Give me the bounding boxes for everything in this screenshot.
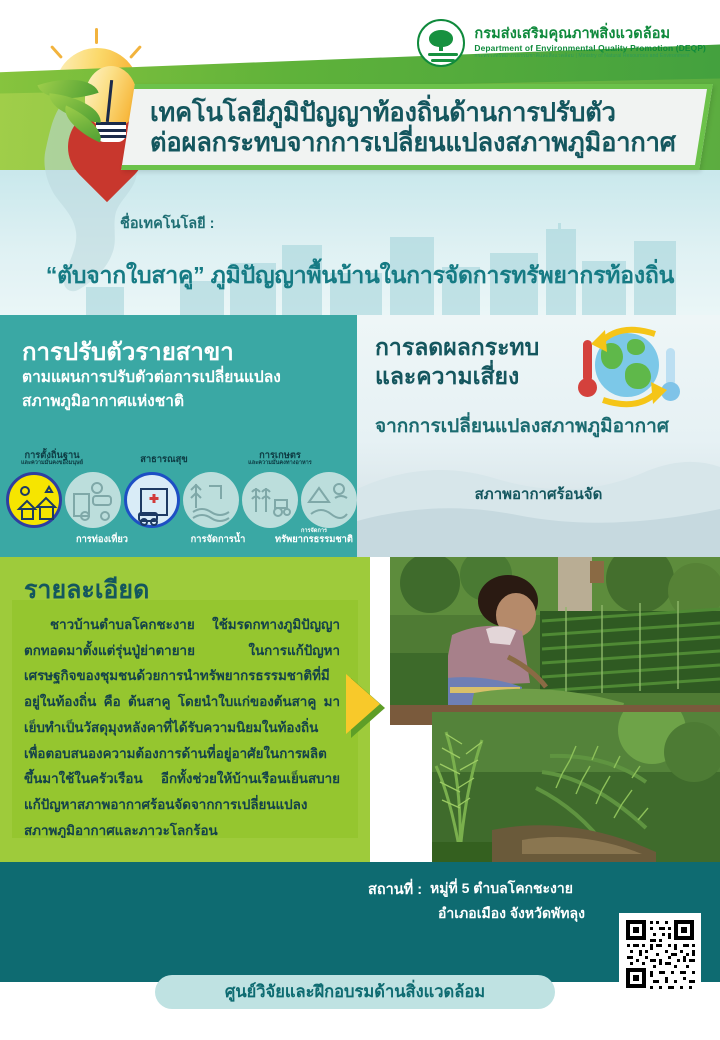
adaptation-subheading-line-2: สภาพภูมิอากาศแห่งชาติ [22, 390, 342, 414]
adaptation-subheading-line-1: ตามแผนการปรับตัวต่อการเปลี่ยนแปลง [22, 366, 342, 390]
sector-label-agriculture: การเกษตร และความมั่นคงทางอาหาร [228, 450, 332, 467]
detail-heading: รายละเอียด [24, 570, 149, 610]
deqp-logo: กรมส่งเสริมคุณภาพสิ่งแวดล้อม Department … [417, 14, 706, 72]
sector-label-natural-resources: การจัดการ ทรัพยากรธรรมชาติ [268, 528, 360, 545]
org-name-th: กรมส่งเสริมคุณภาพสิ่งแวดล้อม [474, 27, 706, 43]
title-line-2: ต่อผลกระทบจากการเปลี่ยนแปลงสภาพภูมิอากาศ [150, 128, 706, 158]
adaptation-subheading: ตามแผนการปรับตัวต่อการเปลี่ยนแปลง สภาพภู… [22, 366, 342, 414]
location-line-1: หมู่ที่ 5 ตำบลโคกชะงาย [430, 878, 573, 900]
weaving-sago-roof-photo [390, 557, 720, 725]
org-name-en: Department of Environmental Quality Prom… [474, 44, 706, 53]
mitigation-note: สภาพอากาศร้อนจัด [357, 482, 720, 506]
mitigation-heading-line-1: การลดผลกระทบ [375, 333, 539, 362]
sector-icon-natural-resources[interactable] [301, 472, 357, 528]
technology-name-label: ชื่อเทคโนโลยี : [120, 212, 215, 235]
title-line-1: เทคโนโลยีภูมิปัญญาท้องถิ่นด้านการปรับตัว [150, 98, 706, 128]
technology-name-value: “ตับจากใบสาคู” ภูมิปัญญาพื้นบ้านในการจัด… [0, 258, 720, 294]
cycle-arrows-icon [583, 324, 675, 410]
sector-icon-water-management[interactable] [183, 472, 239, 528]
sector-icon-row [6, 472, 354, 534]
sun-ray [95, 28, 98, 44]
page-title: เทคโนโลยีภูมิปัญญาท้องถิ่นด้านการปรับตัว… [150, 88, 706, 168]
footer-band [0, 862, 720, 982]
mitigation-subheading: จากการเปลี่ยนแปลงสภาพภูมิอากาศ [375, 411, 669, 441]
qr-caption: ข้อมูลเพิ่มเติม [612, 1000, 708, 1017]
qr-code[interactable] [619, 913, 701, 995]
sector-label-tourism: การท่องเที่ยว [56, 534, 148, 544]
sector-label-settlements: การตั้งถิ่นฐาน และความมั่นคงของมนุษย์ [4, 450, 100, 467]
mitigation-heading: การลดผลกระทบ และความเสี่ยง [375, 333, 539, 391]
sector-icon-village[interactable] [6, 472, 62, 528]
footer-pill: ศูนย์วิจัยและฝึกอบรมด้านสิ่งแวดล้อม [155, 975, 555, 1009]
sector-icon-agriculture[interactable] [242, 472, 298, 528]
sector-label-public-health: สาธารณสุข [118, 454, 210, 464]
sector-icon-hospital[interactable] [124, 472, 180, 528]
sago-palm-grove-photo [432, 712, 720, 862]
sun-ray [50, 45, 63, 59]
footer-text: ศูนย์วิจัยและฝึกอบรมด้านสิ่งแวดล้อม [225, 979, 485, 1005]
location-line-2: อำเภอเมือง จังหวัดพัทลุง [438, 903, 585, 925]
mitigation-heading-line-2: และความเสี่ยง [375, 362, 539, 391]
sector-icon-tourism[interactable] [65, 472, 121, 528]
org-ministry: กระทรวงทรัพยากรธรรมชาติและสิ่งแวดล้อม | … [474, 54, 706, 60]
sun-ray [129, 45, 142, 59]
location-label: สถานที่ : [368, 878, 422, 901]
sector-label-water: การจัดการน้ำ [172, 534, 264, 544]
play-arrow-icon [346, 674, 380, 734]
deqp-seal-icon [417, 19, 465, 67]
detail-body-text: ชาวบ้านตำบลโคกชะงาย ใช้มรดกทางภูมิปัญญาต… [24, 612, 340, 844]
